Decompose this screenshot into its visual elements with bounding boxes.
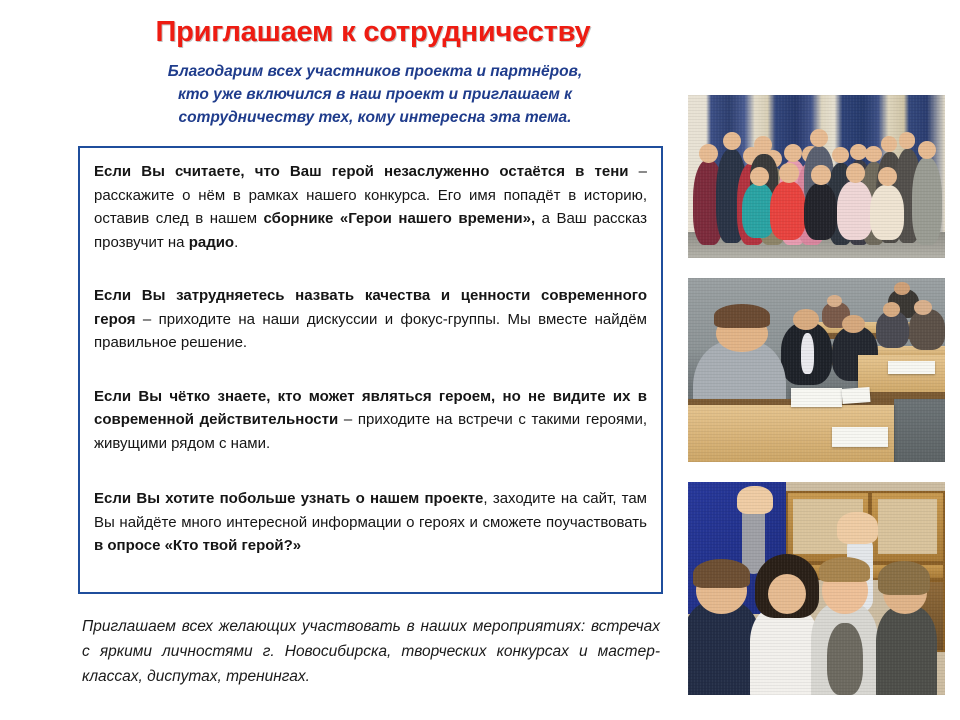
subtitle-line-2: кто уже включился в наш проект и приглаш… xyxy=(90,83,660,106)
paragraph-learn-about-project: Если Вы хотите побольше узнать о нашем п… xyxy=(94,487,647,558)
page-subtitle: Благодарим всех участников проекта и пар… xyxy=(90,60,660,129)
page-title: Приглашаем к сотрудничеству xyxy=(78,16,668,49)
subtitle-line-1: Благодарим всех участников проекта и пар… xyxy=(90,60,660,83)
footer-invitation-note: Приглашаем всех желающих участвовать в н… xyxy=(82,614,660,689)
photo-roundtable-discussion xyxy=(688,278,945,462)
paragraph-hero-in-shadow: Если Вы считаете, что Ваш герой незаслуж… xyxy=(94,160,647,254)
photo-group-participants xyxy=(688,95,945,258)
photo-students-raising-hands xyxy=(688,482,945,695)
subtitle-line-3: сотрудничеству тех, кому интересна эта т… xyxy=(90,106,660,129)
paragraph-hero-in-reality: Если Вы чётко знаете, кто может являться… xyxy=(94,385,647,456)
paragraph-values-of-hero: Если Вы затрудняетесь назвать качества и… xyxy=(94,284,647,355)
main-content-box: Если Вы считаете, что Ваш герой незаслуж… xyxy=(78,146,663,594)
